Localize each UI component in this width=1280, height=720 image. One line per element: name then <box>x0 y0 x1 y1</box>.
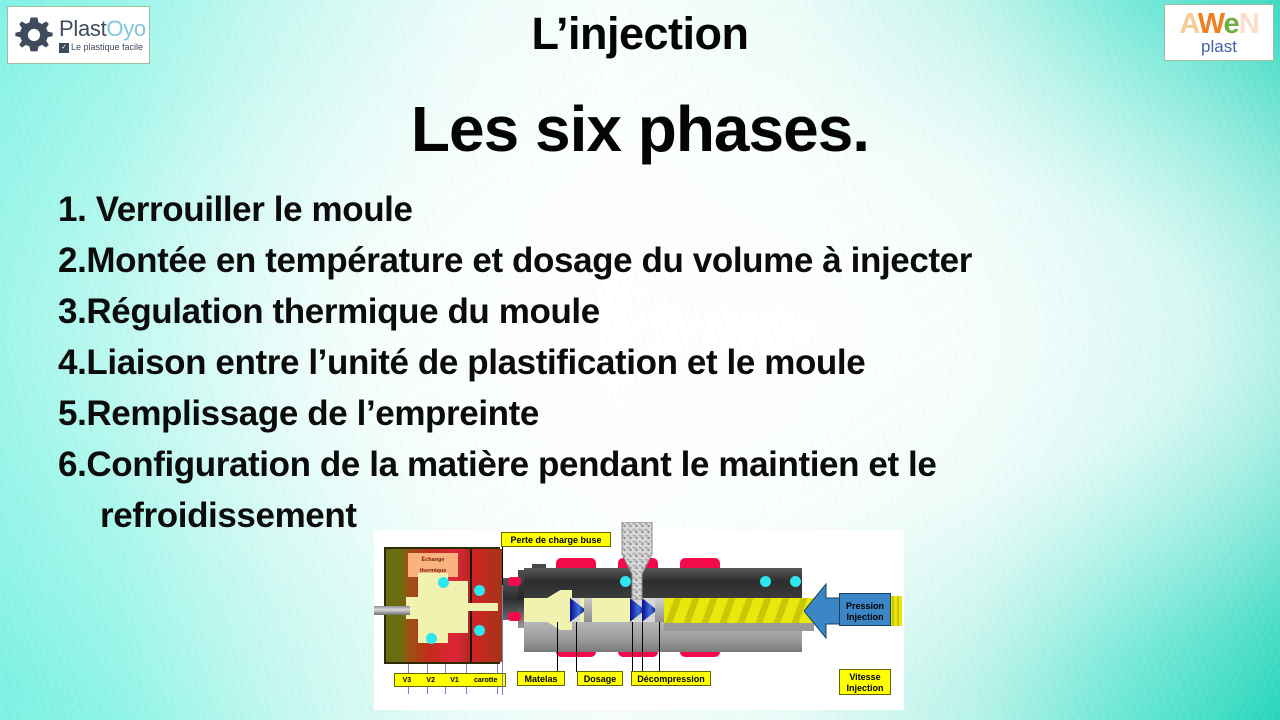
screw <box>664 598 814 623</box>
cooling-channel-dot <box>474 625 485 636</box>
leader-dosage-right <box>632 622 633 672</box>
pression-line2: Injection <box>840 612 890 623</box>
perte-de-charge-buse-label: Perte de charge buse <box>501 532 611 547</box>
list-item-number: 2. <box>58 235 86 286</box>
mold-block: Échange thermique <box>384 547 500 664</box>
cooling-channel-dot <box>760 576 771 587</box>
list-item-label: Montée en température et dosage du volum… <box>86 235 972 286</box>
tick-v2: V2 <box>426 675 435 686</box>
cooling-channel-dot <box>790 576 801 587</box>
list-item-number: 6. <box>58 439 86 490</box>
ejector-rod <box>374 606 410 615</box>
hopper <box>614 522 660 600</box>
vitesse-line1: Vitesse <box>843 672 887 683</box>
leader-decompression-right <box>659 622 660 672</box>
cooling-channel-dot <box>426 633 437 644</box>
leader-perte <box>502 547 503 585</box>
list-item-number: 3. <box>58 286 86 337</box>
leader-matelas <box>557 622 558 672</box>
vitesse-injection-label: Vitesse Injection <box>839 669 891 695</box>
list-item-label: Verrouiller le moule <box>96 184 413 235</box>
leader-decompression-left <box>642 622 643 672</box>
pression-line1: Pression <box>840 601 890 612</box>
list-item-number: 1. <box>58 184 96 235</box>
cooling-channel-dot <box>474 585 485 596</box>
list-item-label: Configuration de la matière pendant le m… <box>86 439 936 490</box>
leader-perte-lower <box>502 585 503 695</box>
tick-v3: V3 <box>403 675 412 686</box>
sprue-channel <box>464 603 498 611</box>
nozzle-heater-band <box>508 577 521 586</box>
list-item-label: Remplissage de l’empreinte <box>86 388 539 439</box>
list-item: 1. Verrouiller le moule <box>58 184 1188 235</box>
cooling-channel-dot <box>620 576 631 587</box>
list-item-label: Liaison entre l’unité de plastification … <box>86 337 865 388</box>
tick-carotte: carotte <box>474 675 497 686</box>
list-item: 4. Liaison entre l’unité de plastificati… <box>58 337 1188 388</box>
page-subtitle: Les six phases. <box>0 92 1280 166</box>
check-ring-collar <box>584 598 592 622</box>
vitesse-line2: Injection <box>843 683 887 694</box>
dosage-label: Dosage <box>577 671 623 686</box>
injection-unit-diagram: Échange thermique V3 V2 V1 carotte <box>374 530 904 710</box>
list-item-label: Régulation thermique du moule <box>86 286 599 337</box>
list-item-number: 5. <box>58 388 86 439</box>
list-item: 2. Montée en température et dosage du vo… <box>58 235 1188 286</box>
page-title: L’injection <box>0 8 1280 60</box>
screw-shadow <box>664 623 814 631</box>
phases-list: 1. Verrouiller le moule 2. Montée en tem… <box>58 184 1188 541</box>
mold-tick-labels: V3 V2 V1 carotte <box>394 673 506 687</box>
list-item: 3. Régulation thermique du moule <box>58 286 1188 337</box>
leader-dosage-left <box>576 622 577 672</box>
list-item-number: 4. <box>58 337 86 388</box>
tick-v1: V1 <box>450 675 459 686</box>
screw-tip-collar <box>655 598 664 622</box>
cooling-channel-dot <box>438 577 449 588</box>
echange-line1: Échange <box>408 553 458 564</box>
list-item: 5. Remplissage de l’empreinte <box>58 388 1188 439</box>
matelas-label: Matelas <box>517 671 565 686</box>
nozzle-heater-band <box>508 612 521 621</box>
list-item: 6. Configuration de la matière pendant l… <box>58 439 1188 490</box>
slide-canvas: PlastOyo ✓ Le plastique facile AWeN plas… <box>0 0 1280 720</box>
decompression-label: Décompression <box>631 671 711 686</box>
pression-injection-label: Pression Injection <box>839 593 891 626</box>
